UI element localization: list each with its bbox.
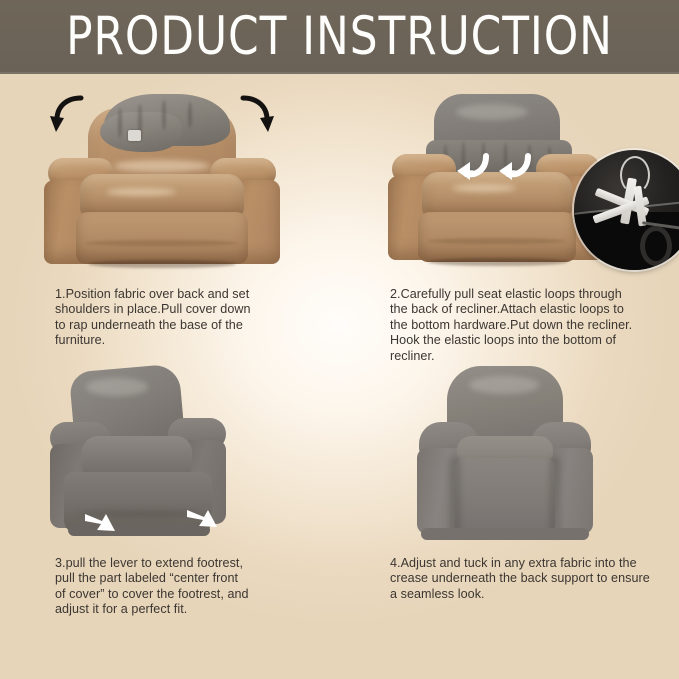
step-2-figure [378,88,658,268]
step-3-figure [50,360,280,545]
recliner-footrest-front [418,212,576,262]
cover-label-tag [128,130,141,141]
seat-sheen [452,184,516,192]
recliner-base-shadow [88,260,236,268]
step-2-caption: 2.Carefully pull seat elastic loops thro… [390,287,655,364]
recliner-footrest-front [76,212,248,264]
recliner-base-shadow [428,258,568,266]
covered-base-hem [421,528,589,540]
step-4-figure [395,360,625,545]
step-panel-4: 4.Adjust and tuck in any extra fabric in… [340,354,679,624]
drape-crease-1 [118,108,122,138]
drape-crease-4 [188,102,192,128]
front-panel-right-seam [549,456,561,536]
page-title: PRODUCT INSTRUCTION [27,9,652,65]
covered-front-panel [455,458,555,536]
elastic-loop-hardware-inset [574,150,679,270]
step-panel-1: 1.Position fabric over back and set shou… [0,74,340,354]
front-crease [428,238,566,244]
front-panel-left-seam [449,456,461,536]
covered-backrest-highlight [456,104,528,120]
straight-arrow-white-right-icon [186,506,220,532]
backrest-sheen [114,160,210,172]
straight-arrow-white-left-icon [84,510,118,536]
step-panel-3: 3.pull the lever to extend footrest, pul… [0,354,340,624]
step-3-caption: 3.pull the lever to extend footrest, pul… [55,556,307,618]
front-crease [86,240,238,246]
backrest-highlight [469,376,539,394]
drape-crease-3 [162,100,166,130]
backrest-highlight [86,378,148,396]
step-1-figure [42,88,282,268]
product-instruction-page: PRODUCT INSTRUCTION [0,0,679,679]
curved-arrow-white-left-icon [456,150,492,182]
step-1-caption: 1.Position fabric over back and set shou… [55,287,305,349]
covered-recliner-front-illustration [395,360,625,545]
seat-sheen [106,188,176,196]
page-header-bar: PRODUCT INSTRUCTION [0,0,679,74]
step-4-caption: 4.Adjust and tuck in any extra fabric in… [390,556,658,602]
curved-arrow-down-right-icon [236,92,276,136]
curved-arrow-down-left-icon [48,92,88,136]
step-panel-2: 2.Carefully pull seat elastic loops thro… [340,74,679,354]
hardware-bracket-icon [640,226,672,266]
curved-arrow-white-right-icon [498,150,534,182]
